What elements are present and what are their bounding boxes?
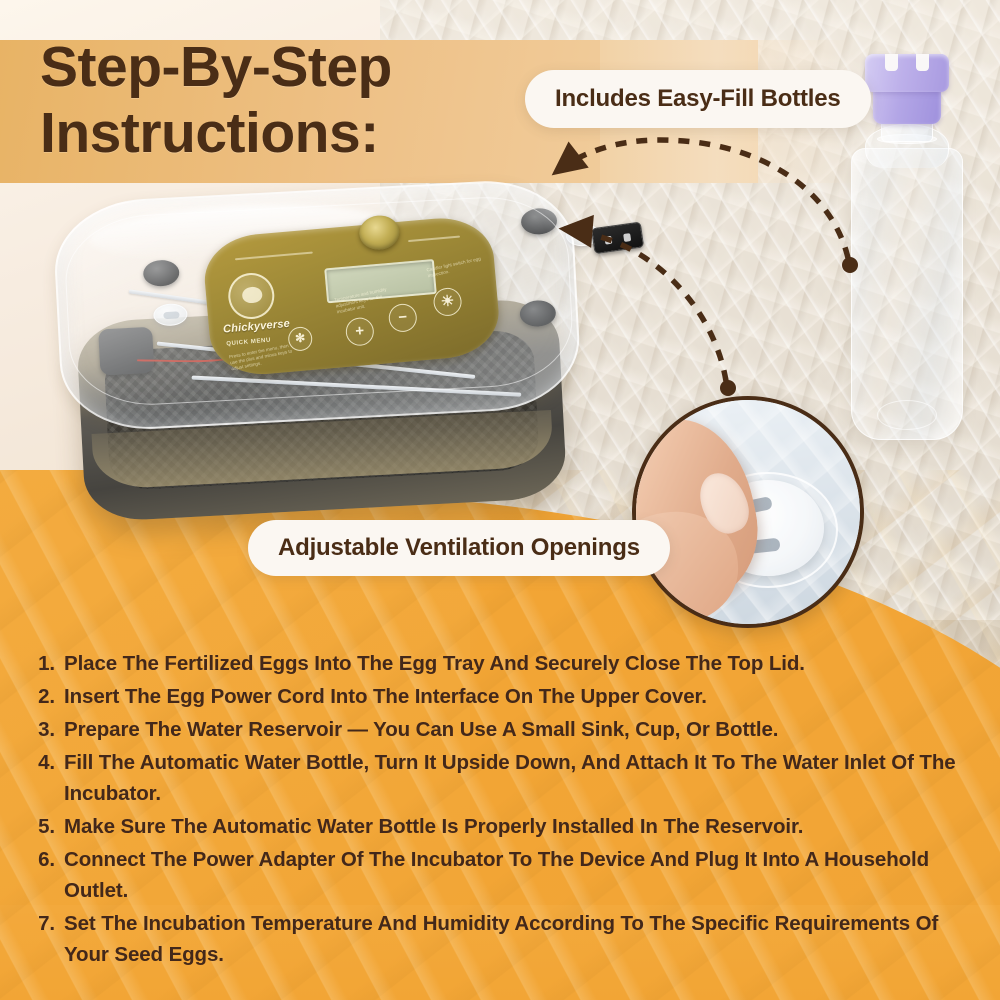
quick-menu-label: QUICK MENU <box>226 337 271 347</box>
brand-label: Chickyverse <box>223 314 332 335</box>
callout-adjustable-ventilation-openings: Adjustable Ventilation Openings <box>248 520 670 576</box>
panel-microtext: Candler light switch for egg inspection. <box>426 254 491 279</box>
bottle-cap-upper <box>865 54 949 92</box>
list-item: 3. Prepare The Water Reservoir — You Can… <box>34 714 974 745</box>
callout-includes-easy-fill-bottles: Includes Easy-Fill Bottles <box>525 70 871 128</box>
bottle-body <box>851 148 963 440</box>
panel-slot <box>408 236 460 243</box>
list-item: 2. Insert The Egg Power Cord Into The In… <box>34 681 974 712</box>
step-number: 3. <box>34 714 64 745</box>
cap-notch <box>916 54 929 71</box>
incubator-product-image: Chickyverse QUICK MENU ✻ + − ☀ Press to … <box>51 177 588 544</box>
infographic-canvas: Step-By-Step Instructions: Chickyv <box>0 0 1000 1000</box>
step-text: Fill The Automatic Water Bottle, Turn It… <box>64 747 974 809</box>
minus-button[interactable]: − <box>388 303 418 333</box>
list-item: 7. Set The Incubation Temperature And Hu… <box>34 908 974 970</box>
instructions-list: 1. Place The Fertilized Eggs Into The Eg… <box>34 648 974 972</box>
step-text: Place The Fertilized Eggs Into The Egg T… <box>64 648 974 679</box>
light-button[interactable]: ☀ <box>432 287 462 317</box>
step-number: 1. <box>34 648 64 679</box>
list-item: 5. Make Sure The Automatic Water Bottle … <box>34 811 974 842</box>
panel-microtext: Press to enter the menu, then use the pl… <box>229 342 295 372</box>
ventilation-closeup-photo <box>632 396 864 628</box>
control-panel: Chickyverse QUICK MENU ✻ + − ☀ Press to … <box>201 214 502 379</box>
cap-notch <box>885 54 898 71</box>
panel-slot <box>235 251 313 260</box>
step-number: 6. <box>34 844 64 906</box>
step-text: Prepare The Water Reservoir — You Can Us… <box>64 714 974 745</box>
step-text: Set The Incubation Temperature And Humid… <box>64 908 974 970</box>
callout-label: Adjustable Ventilation Openings <box>278 534 640 562</box>
chickyverse-logo-icon <box>226 271 276 321</box>
list-item: 6. Connect The Power Adapter Of The Incu… <box>34 844 974 906</box>
step-text: Insert The Egg Power Cord Into The Inter… <box>64 681 974 712</box>
callout-label: Includes Easy-Fill Bottles <box>555 85 841 113</box>
chick-glyph <box>242 286 263 304</box>
step-text: Make Sure The Automatic Water Bottle Is … <box>64 811 974 842</box>
step-number: 2. <box>34 681 64 712</box>
list-item: 4. Fill The Automatic Water Bottle, Turn… <box>34 747 974 809</box>
plus-button[interactable]: + <box>345 317 375 347</box>
step-number: 5. <box>34 811 64 842</box>
list-item: 1. Place The Fertilized Eggs Into The Eg… <box>34 648 974 679</box>
bottle-base <box>877 400 937 430</box>
step-number: 7. <box>34 908 64 970</box>
step-text: Connect The Power Adapter Of The Incubat… <box>64 844 974 906</box>
step-number: 4. <box>34 747 64 809</box>
